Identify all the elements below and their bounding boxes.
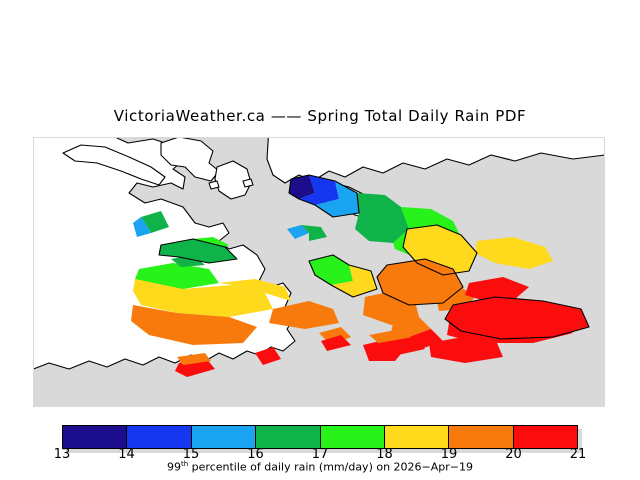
colorbar-segment-20-21[interactable]: [514, 426, 577, 448]
colorbar-segment-16-17[interactable]: [256, 426, 320, 448]
weather-map-page: VictoriaWeather.ca —— Spring Total Daily…: [0, 0, 640, 480]
colorbar-segment-15-16[interactable]: [192, 426, 256, 448]
islet-a-land: [209, 181, 219, 189]
colorbar-caption: 99th percentile of daily rain (mm/day) o…: [0, 460, 640, 474]
colorbar-segment-14-15[interactable]: [127, 426, 191, 448]
colorbar-segment-18-19[interactable]: [385, 426, 449, 448]
caption-rest: percentile of daily rain (mm/day) on 202…: [188, 461, 473, 474]
map-panel[interactable]: [33, 137, 605, 407]
colorbar-segment-17-18[interactable]: [321, 426, 385, 448]
map-canvas[interactable]: [33, 137, 605, 407]
caption-prefix: 99: [167, 461, 181, 474]
colorbar[interactable]: [62, 425, 578, 449]
colorbar-segment-13-14[interactable]: [63, 426, 127, 448]
islet-b-land: [243, 179, 253, 187]
colorbar-segments[interactable]: [62, 425, 578, 449]
colorbar-segment-19-20[interactable]: [449, 426, 513, 448]
page-title: VictoriaWeather.ca —— Spring Total Daily…: [0, 107, 640, 125]
